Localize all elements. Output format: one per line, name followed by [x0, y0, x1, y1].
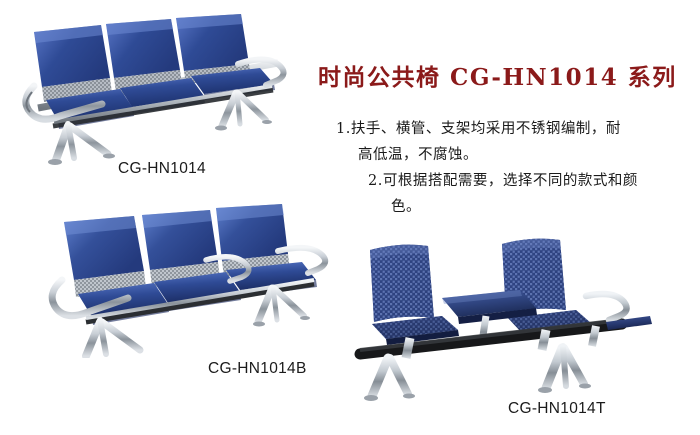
product-image-cg-hn1014b	[20, 198, 335, 358]
description-line-1: 1.扶手、横管、支架均采用不锈钢编制，耐	[336, 116, 696, 142]
product-label-cg-hn1014: CG-HN1014	[118, 160, 206, 178]
description-line-3: 2.可根据搭配需要，选择不同的款式和颜	[368, 168, 696, 194]
product-image-cg-hn1014	[8, 8, 308, 168]
product-description: 1.扶手、横管、支架均采用不锈钢编制，耐 高低温，不腐蚀。 2.可根据搭配需要，…	[336, 116, 696, 220]
product-label-cg-hn1014t: CG-HN1014T	[508, 400, 606, 418]
page-title: 时尚公共椅 CG-HN1014 系列	[318, 58, 693, 92]
product-label-cg-hn1014b: CG-HN1014B	[208, 360, 307, 378]
description-line-4: 色。	[391, 194, 696, 220]
product-image-cg-hn1014t	[350, 238, 690, 403]
product-catalog-page: 时尚公共椅 CG-HN1014 系列 1.扶手、横管、支架均采用不锈钢编制，耐 …	[0, 0, 700, 435]
description-line-2: 高低温，不腐蚀。	[358, 142, 696, 168]
